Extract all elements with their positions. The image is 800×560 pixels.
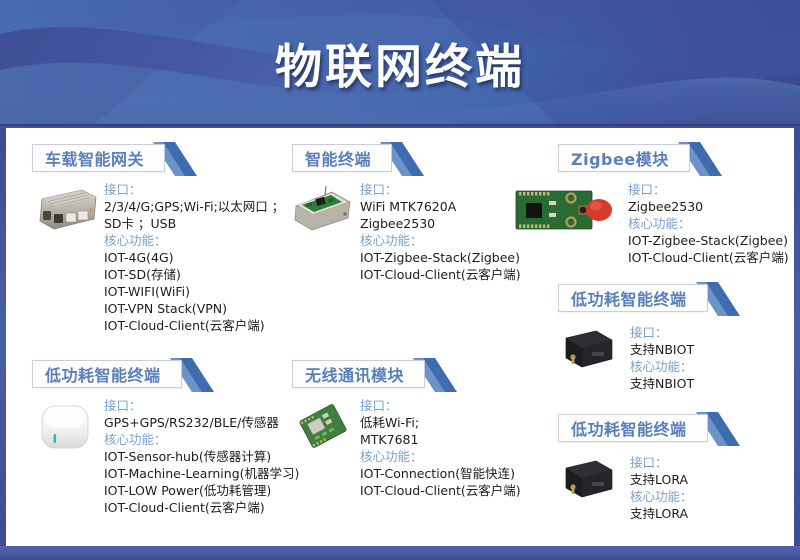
card-zigbee-module: Zigbee模块	[558, 144, 794, 266]
card-title: 低功耗智能终端	[571, 416, 687, 440]
device-image-metal-gateway	[32, 181, 98, 239]
core-function-label: 核心功能：	[360, 448, 521, 465]
interface-value: SD卡 ；USB	[104, 215, 284, 232]
interface-value: WiFi MTK7620A	[360, 198, 521, 215]
ribbon-vehicle-gateway: 车载智能网关	[32, 144, 165, 174]
interface-value: 2/3/4/G;GPS;Wi-Fi;以太网口 ；	[104, 198, 284, 215]
core-function-value: IOT-VPN Stack(VPN)	[104, 300, 284, 317]
ribbon-wireless-module: 无线通讯模块	[292, 360, 425, 390]
interface-label: 接口：	[628, 181, 789, 198]
interface-value: 低耗Wi-Fi;	[360, 414, 521, 431]
interface-label: 接口：	[360, 181, 521, 198]
core-function-value: IOT-4G(4G)	[104, 249, 284, 266]
page-title: 物联网终端	[0, 0, 800, 124]
ribbon-low-power-sensor: 低功耗智能终端	[32, 360, 182, 390]
core-function-value: IOT-WIFI(WiFi)	[104, 283, 284, 300]
card-low-power-lora: 低功耗智能终端 接口： 支持LORA 核心功能：	[558, 414, 794, 522]
spec-block: 接口： GPS+GPS/RS232/BLE/传感器 核心功能： IOT-Sens…	[104, 397, 299, 516]
card-title: 低功耗智能终端	[571, 286, 687, 310]
interface-value: 支持NBIOT	[630, 341, 694, 358]
spec-block: 接口： 支持LORA 核心功能： 支持LORA	[630, 454, 693, 522]
core-function-value: IOT-Connection(智能快连)	[360, 465, 521, 482]
card-title: 智能终端	[305, 146, 371, 170]
spec-block: 接口： Zigbee2530 核心功能： IOT-Zigbee-Stack(Zi…	[628, 181, 789, 266]
interface-label: 接口：	[630, 324, 694, 341]
header-banner: 物联网终端	[0, 0, 800, 128]
spec-block: 接口： 低耗Wi-Fi; MTK7681 核心功能： IOT-Connectio…	[360, 397, 521, 499]
core-function-value: IOT-Sensor-hub(传感器计算)	[104, 448, 299, 465]
interface-value: 支持LORA	[630, 471, 693, 488]
ribbon-zigbee-module: Zigbee模块	[558, 144, 690, 174]
core-function-label: 核心功能：	[104, 232, 284, 249]
core-function-value: IOT-LOW Power(低功耗管理)	[104, 482, 299, 499]
ribbon-low-power-lora: 低功耗智能终端	[558, 414, 708, 444]
core-function-label: 核心功能：	[628, 215, 789, 232]
card-title: 无线通讯模块	[305, 362, 404, 386]
core-function-value: IOT-SD(存储)	[104, 266, 284, 283]
core-function-label: 核心功能：	[630, 488, 693, 505]
core-function-value: 支持LORA	[630, 505, 693, 522]
interface-label: 接口：	[360, 397, 521, 414]
device-image-gray-enclosure-pcb	[292, 181, 354, 239]
ribbon-smart-terminal: 智能终端	[292, 144, 392, 174]
card-smart-terminal: 智能终端 接口： WiFi M	[292, 144, 542, 283]
card-low-power-sensor: 低功耗智能终端 接口： GPS+GPS/RS232/BLE/传感器	[32, 360, 302, 516]
card-wireless-module: 无线通讯模块	[292, 360, 542, 499]
interface-value: Zigbee2530	[360, 215, 521, 232]
right-edge-strip	[794, 128, 800, 546]
spec-block: 接口： 支持NBIOT 核心功能： 支持NBIOT	[630, 324, 694, 392]
core-function-value: IOT-Cloud-Client(云客户端)	[104, 317, 284, 334]
device-image-black-module-nbiot	[558, 324, 620, 376]
interface-label: 接口：	[104, 397, 299, 414]
card-title: 低功耗智能终端	[45, 362, 161, 386]
left-edge-strip	[0, 128, 6, 546]
core-function-label: 核心功能：	[360, 232, 521, 249]
core-function-value: 支持NBIOT	[630, 375, 694, 392]
card-low-power-nbiot: 低功耗智能终端 接口： 支持NBIOT 核心功能：	[558, 284, 794, 392]
core-function-value: IOT-Cloud-Client(云客户端)	[360, 266, 521, 283]
interface-label: 接口：	[630, 454, 693, 471]
core-function-label: 核心功能：	[104, 431, 299, 448]
core-function-value: IOT-Zigbee-Stack(Zigbee)	[628, 232, 789, 249]
core-function-value: IOT-Zigbee-Stack(Zigbee)	[360, 249, 521, 266]
interface-label: 接口：	[104, 181, 284, 198]
core-function-value: IOT-Cloud-Client(云客户端)	[104, 499, 299, 516]
device-image-black-module-lora	[558, 454, 620, 506]
poster-page: 物联网终端 车载智能网关	[0, 0, 800, 560]
device-image-wifi-pcb	[292, 397, 354, 455]
core-function-value: IOT-Machine-Learning(机器学习)	[104, 465, 299, 482]
core-function-label: 核心功能：	[630, 358, 694, 375]
interface-value: GPS+GPS/RS232/BLE/传感器	[104, 414, 299, 431]
interface-value: Zigbee2530	[628, 198, 789, 215]
spec-block: 接口： WiFi MTK7620A Zigbee2530 核心功能： IOT-Z…	[360, 181, 521, 283]
device-image-white-sensor	[32, 397, 98, 457]
spec-block: 接口： 2/3/4/G;GPS;Wi-Fi;以太网口 ； SD卡 ；USB 核心…	[104, 181, 284, 334]
device-image-zigbee-pcb	[514, 181, 620, 237]
header-divider	[0, 124, 800, 128]
card-vehicle-gateway: 车载智能网关	[32, 144, 292, 334]
bottom-edge-strip	[0, 546, 800, 560]
ribbon-low-power-nbiot: 低功耗智能终端	[558, 284, 708, 314]
card-title: Zigbee模块	[571, 146, 669, 170]
interface-value: MTK7681	[360, 431, 521, 448]
core-function-value: IOT-Cloud-Client(云客户端)	[628, 249, 789, 266]
card-title: 车载智能网关	[45, 146, 144, 170]
core-function-value: IOT-Cloud-Client(云客户端)	[360, 482, 521, 499]
